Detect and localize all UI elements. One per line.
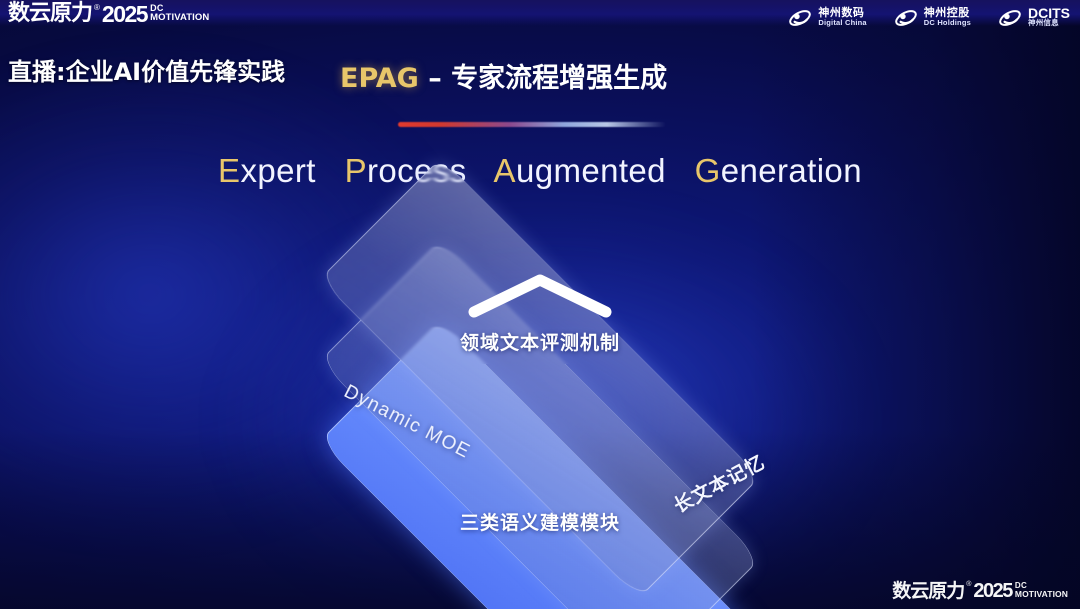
partner-name-en: 神州信息 <box>1028 18 1070 28</box>
event-logo-motivation: MOTIVATION <box>150 13 209 22</box>
diagram-layer-top[interactable] <box>314 152 766 604</box>
page-title-cn: – 专家流程增强生成 <box>428 63 667 94</box>
watermark-motivation: MOTIVATION <box>1015 590 1068 599</box>
event-logo-cn: 数云原力 <box>8 2 92 26</box>
swirl-icon <box>893 7 919 29</box>
partner-logo-row: 神州数码 Digital China 神州控股 DC Holdings DC <box>787 7 1070 29</box>
partner-name-en: Digital China <box>818 18 866 28</box>
watermark-dc-motivation: DC MOTIVATION <box>1015 581 1068 599</box>
page-title: EPAG – 专家流程增强生成 <box>340 56 667 95</box>
swirl-icon <box>787 7 813 29</box>
subtitle-word-expert: Expert <box>218 152 316 189</box>
watermark-logo: 数云原力 ® 2025 DC MOTIVATION <box>892 579 1068 603</box>
event-logo: 数云原力 ® 2025 DC MOTIVATION <box>8 2 209 26</box>
partner-logo-dcits: DCITS 神州信息 <box>997 7 1070 29</box>
swirl-icon <box>997 7 1023 29</box>
slide-canvas: 数云原力 ® 2025 DC MOTIVATION 直播:企业AI价值先锋实践 … <box>0 0 1080 609</box>
layer-stack-diagram: 领域文本评测机制 Dynamic MOE 长文本记忆 三类语义建模模块 <box>285 228 795 568</box>
partner-name-en: DC Holdings <box>924 18 971 28</box>
partner-name-cn: DCITS <box>1028 8 1070 18</box>
page-title-acronym: EPAG <box>340 63 419 94</box>
live-banner-title: 直播:企业AI价值先锋实践 <box>8 52 285 87</box>
partner-logo-dc-holdings: 神州控股 DC Holdings <box>893 7 971 29</box>
registered-mark: ® <box>94 2 100 13</box>
partner-logo-digital-china: 神州数码 Digital China <box>787 7 866 29</box>
watermark-registered: ® <box>966 579 971 590</box>
event-logo-dc-motivation: DC MOTIVATION <box>150 4 209 22</box>
chevron-up-icon <box>466 272 614 318</box>
title-divider-rule <box>398 122 666 127</box>
event-logo-year: 2025 <box>102 2 147 26</box>
layer-label-top: 领域文本评测机制 <box>285 328 795 355</box>
partner-name-cn: 神州数码 <box>818 8 866 18</box>
watermark-year: 2025 <box>973 579 1012 603</box>
watermark-cn: 数云原力 <box>892 579 964 603</box>
layer-label-bottom: 三类语义建模模块 <box>285 508 795 535</box>
partner-name-cn: 神州控股 <box>924 8 971 18</box>
